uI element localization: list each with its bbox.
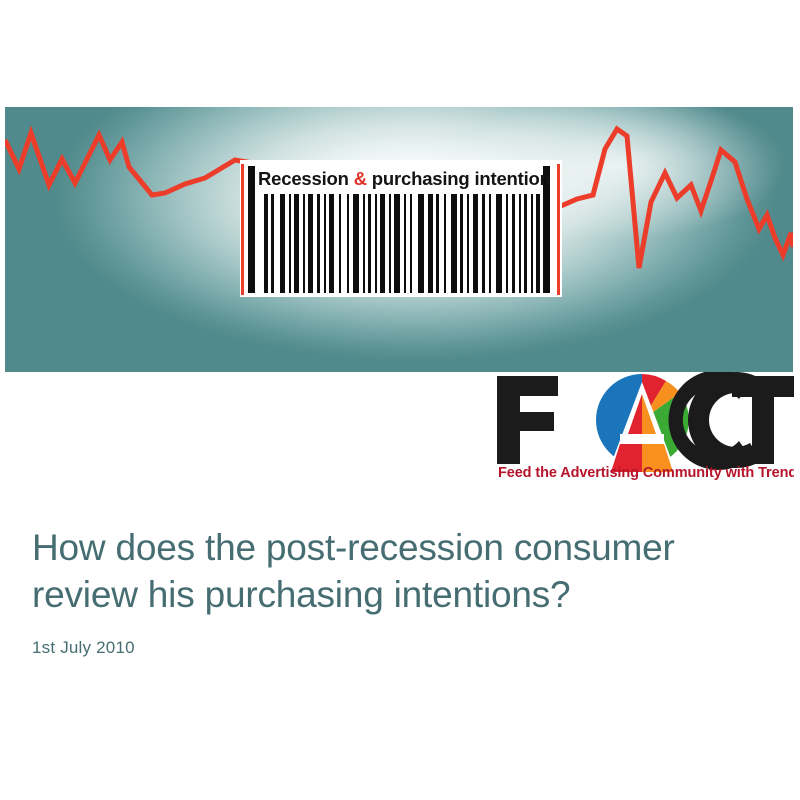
barcode-bar <box>531 194 533 293</box>
fact-logo: Feed the Advertising Community with Tren… <box>492 372 794 480</box>
barcode-bar <box>444 194 446 293</box>
barcode-bar <box>467 194 469 293</box>
barcode-title-suffix: purchasing intention <box>367 168 551 189</box>
barcode-bar <box>512 194 515 293</box>
barcode-bar <box>339 194 341 293</box>
barcode-bar <box>375 194 377 293</box>
barcode-bar <box>389 194 391 293</box>
barcode-bar <box>303 194 305 293</box>
barcode-bar <box>308 194 313 293</box>
barcode-bar <box>289 194 291 293</box>
page-title-line-2: review his purchasing intentions? <box>32 574 570 615</box>
barcode-guard-bar <box>248 166 255 293</box>
barcode-bar <box>428 194 433 293</box>
barcode-title-ampersand: & <box>354 168 367 189</box>
page-title: How does the post-recession consumer rev… <box>32 524 762 618</box>
barcode-title-prefix: Recession <box>258 168 354 189</box>
barcode-bar <box>489 194 491 293</box>
barcode-bar <box>524 194 527 293</box>
barcode-bar <box>294 194 299 293</box>
barcode-bar <box>460 194 463 293</box>
slide-date: 1st July 2010 <box>32 638 762 658</box>
barcode-bar <box>394 194 400 293</box>
barcode-bar <box>451 194 457 293</box>
barcode-bar <box>347 194 349 293</box>
barcode-bar <box>404 194 406 293</box>
barcode-bar <box>519 194 521 293</box>
barcode-bar <box>536 194 540 293</box>
title-block: How does the post-recession consumer rev… <box>32 524 762 658</box>
barcode-bar <box>324 194 326 293</box>
barcode-bar <box>353 194 359 293</box>
logo-tagline: Feed the Advertising Community with Tren… <box>498 465 794 480</box>
barcode-bar <box>436 194 439 293</box>
barcode-bar <box>473 194 478 293</box>
barcode-bar <box>482 194 485 293</box>
barcode-graphic: Recession & purchasing intention <box>240 160 562 297</box>
barcode-bar <box>264 194 268 293</box>
barcode-bar <box>317 194 320 293</box>
slide-canvas: Recession & purchasing intention <box>0 0 800 800</box>
barcode-bar <box>418 194 424 293</box>
barcode-title: Recession & purchasing intention <box>258 166 546 192</box>
page-title-line-1: How does the post-recession consumer <box>32 527 675 568</box>
barcode-bar <box>506 194 508 293</box>
barcode-bar <box>280 194 285 293</box>
barcode-bar <box>368 194 371 293</box>
barcode-bar <box>496 194 502 293</box>
barcode-bar <box>410 194 412 293</box>
barcode-bar <box>271 194 274 293</box>
logo-letter-f <box>497 376 558 464</box>
barcode-bar <box>363 194 365 293</box>
barcode-bar <box>329 194 334 293</box>
barcode-bar <box>380 194 385 293</box>
fact-logo-svg: Feed the Advertising Community with Tren… <box>492 372 794 480</box>
